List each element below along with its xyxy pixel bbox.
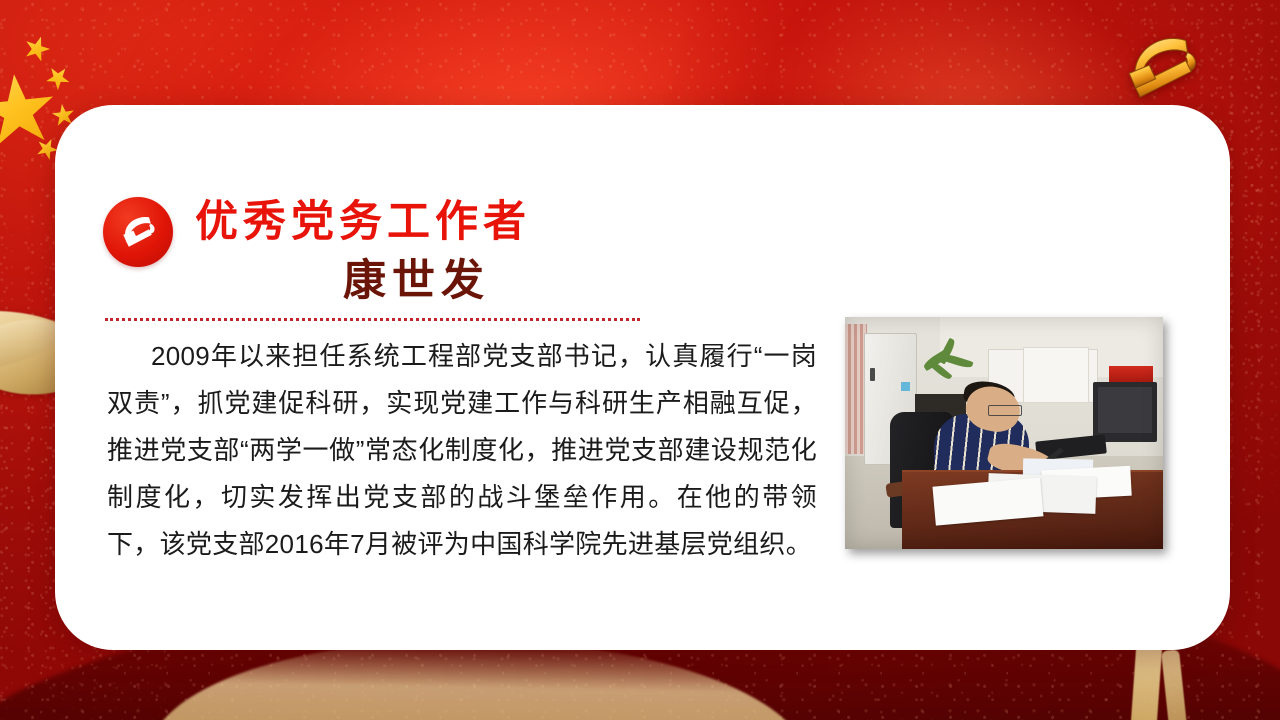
content-card: 优秀党务工作者 康世发 2009年以来担任系统工程部党支部书记，认真履行“一岗双… <box>55 105 1230 650</box>
body-paragraph: 2009年以来担任系统工程部党支部书记，认真履行“一岗双责”，抓党建促科研，实现… <box>107 333 817 568</box>
flag-star-small-1 <box>21 33 54 66</box>
slide-root: 优秀党务工作者 康世发 2009年以来担任系统工程部党支部书记，认真履行“一岗双… <box>0 0 1280 720</box>
person-name: 康世发 <box>343 260 490 303</box>
flag-star-small-2 <box>41 61 75 95</box>
photo-scene <box>845 317 1163 549</box>
dotted-divider <box>105 318 640 321</box>
person-photo <box>845 317 1163 549</box>
party-emblem-icon <box>1106 26 1218 108</box>
page-title: 优秀党务工作者 <box>195 201 531 244</box>
photo-vignette <box>845 317 1163 549</box>
party-badge-icon <box>103 197 173 267</box>
